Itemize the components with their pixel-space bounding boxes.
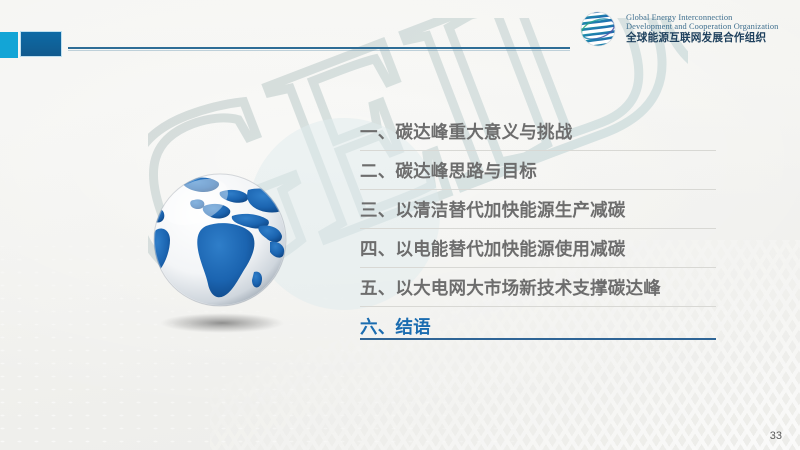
header-accent-square-cyan xyxy=(0,32,18,58)
earth-globe-illustration xyxy=(148,168,296,346)
agenda-item-6[interactable]: 六、结语 xyxy=(360,307,716,346)
agenda-item-6-label: 六、结语 xyxy=(360,314,431,339)
agenda-item-4[interactable]: 四、以电能替代加快能源使用减碳 xyxy=(360,229,716,268)
agenda-list: 一、碳达峰重大意义与挑战 二、碳达峰思路与目标 三、以清洁替代加快能源生产减碳 … xyxy=(360,112,716,346)
organization-logo-text: Global Energy Interconnection Developmen… xyxy=(626,13,778,46)
agenda-item-3-label: 三、以清洁替代加快能源生产减碳 xyxy=(360,197,626,222)
agenda-item-3[interactable]: 三、以清洁替代加快能源生产减碳 xyxy=(360,190,716,229)
header-accent-square-blue xyxy=(20,31,62,57)
logo-english-line-1: Global Energy Interconnection xyxy=(626,13,778,22)
slide-canvas: GEIDCO xyxy=(0,0,800,450)
organization-logo: Global Energy Interconnection Developmen… xyxy=(578,8,794,50)
header-rule-shadow xyxy=(68,50,570,51)
agenda-bottom-rule xyxy=(360,338,716,340)
agenda-item-2-label: 二、碳达峰思路与目标 xyxy=(360,158,537,183)
logo-chinese-name: 全球能源互联网发展合作组织 xyxy=(626,33,778,45)
agenda-item-1[interactable]: 一、碳达峰重大意义与挑战 xyxy=(360,112,716,151)
agenda-item-5-label: 五、以大电网大市场新技术支撑碳达峰 xyxy=(360,275,661,300)
logo-english-line-2: Development and Cooperation Organization xyxy=(626,22,778,31)
agenda-item-4-label: 四、以电能替代加快能源使用减碳 xyxy=(360,236,626,261)
geidco-globe-logo-icon xyxy=(578,9,618,49)
agenda-item-1-label: 一、碳达峰重大意义与挑战 xyxy=(360,119,572,144)
page-number: 33 xyxy=(770,430,782,442)
agenda-item-5[interactable]: 五、以大电网大市场新技术支撑碳达峰 xyxy=(360,268,716,307)
agenda-item-2[interactable]: 二、碳达峰思路与目标 xyxy=(360,151,716,190)
header-rule xyxy=(68,47,570,49)
